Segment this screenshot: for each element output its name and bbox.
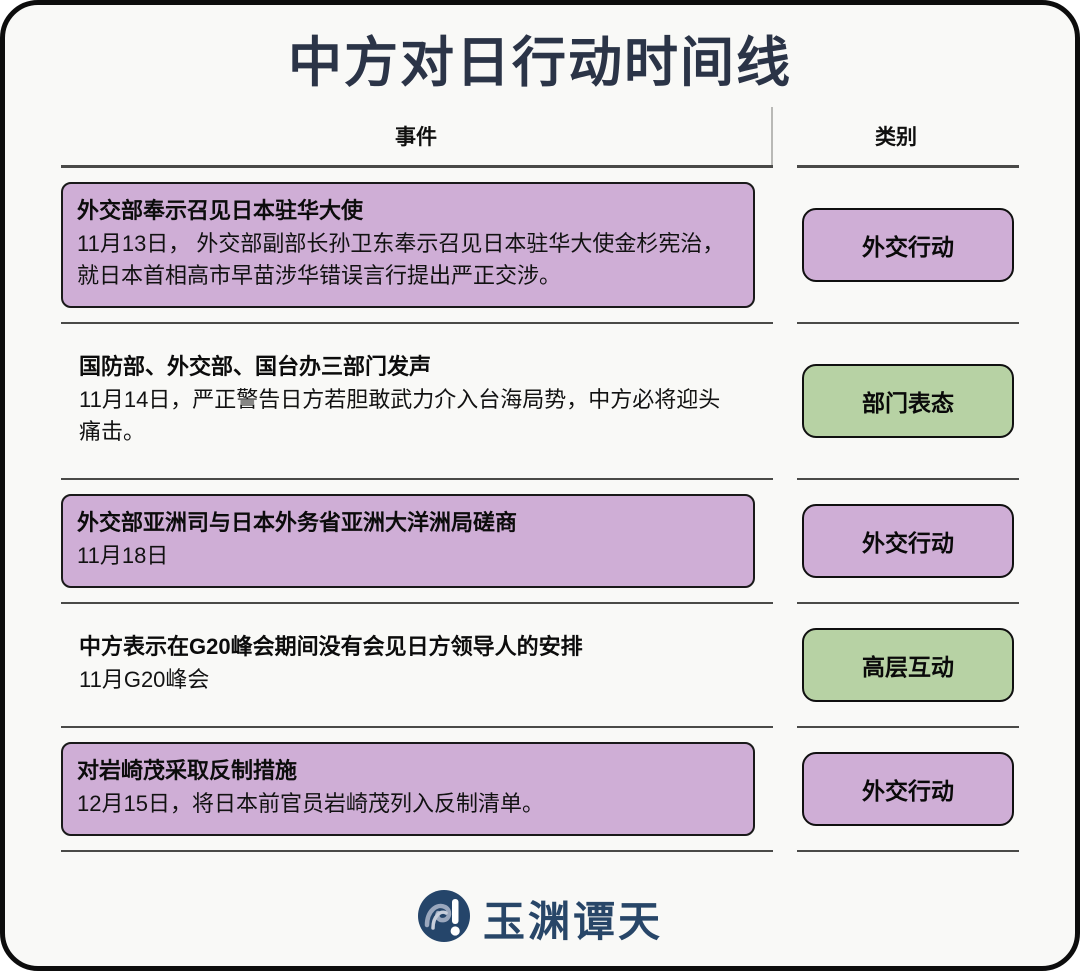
category-badge[interactable]: 外交行动 [802,752,1014,826]
event-cell: 中方表示在G20峰会期间没有会见日方领导人的安排11月G20峰会 [61,618,773,712]
category-cell: 外交行动 [773,504,1019,578]
wave-exclamation-circle-icon [417,889,471,948]
row-divider-gap [773,850,797,852]
event-detail: 11月18日 [77,540,739,572]
event-cell: 外交部亚洲司与日本外务省亚洲大洋洲局磋商11月18日 [61,494,773,588]
event-cell: 对岩崎茂采取反制措施12月15日，将日本前官员岩崎茂列入反制清单。 [61,742,773,836]
timeline-table: 事件 类别 外交部奉示召见日本驻华大使11月13日， 外交部副部长孙卫东奉示召见… [61,107,1019,870]
event-title: 中方表示在G20峰会期间没有会见日方领导人的安排 [79,632,739,662]
table-row-inner: 国防部、外交部、国台办三部门发声11月14日，严正警告日方若胆敢武力介入台海局势… [61,324,1019,478]
event-detail: 12月15日，将日本前官员岩崎茂列入反制清单。 [77,788,739,820]
event-detail: 11月13日， 外交部副部长孙卫东奉示召见日本驻华大使金杉宪治，就日本首相高市早… [77,228,739,292]
table-row: 对岩崎茂采取反制措施12月15日，将日本前官员岩崎茂列入反制清单。外交行动 [61,728,1019,852]
table-row-inner: 外交部奉示召见日本驻华大使11月13日， 外交部副部长孙卫东奉示召见日本驻华大使… [61,168,1019,322]
footer-logo: 玉渊谭天 [5,870,1075,966]
category-cell: 高层互动 [773,628,1019,702]
infographic-card: 中方对日行动时间线 事件 类别 外交部奉示召见日本驻华大使11月13日， 外交部… [0,0,1080,971]
event-detail: 11月14日，严正警告日方若胆敢武力介入台海局势，中方必将迎头痛击。 [79,384,739,448]
row-divider-right [797,850,1019,852]
category-badge[interactable]: 高层互动 [802,628,1014,702]
event-highlight-box: 外交部奉示召见日本驻华大使11月13日， 外交部副部长孙卫东奉示召见日本驻华大使… [61,182,755,308]
event-title: 国防部、外交部、国台办三部门发声 [79,352,739,382]
table-row-inner: 对岩崎茂采取反制措施12月15日，将日本前官员岩崎茂列入反制清单。外交行动 [61,728,1019,850]
event-title: 外交部奉示召见日本驻华大使 [77,196,739,226]
event-detail: 11月G20峰会 [79,664,739,696]
event-plain-box: 国防部、外交部、国台办三部门发声11月14日，严正警告日方若胆敢武力介入台海局势… [61,338,755,464]
table-row-inner: 外交部亚洲司与日本外务省亚洲大洋洲局磋商11月18日外交行动 [61,480,1019,602]
row-divider-left [61,850,773,852]
category-badge[interactable]: 外交行动 [802,208,1014,282]
category-cell: 部门表态 [773,364,1019,438]
category-badge[interactable]: 部门表态 [802,364,1014,438]
category-badge[interactable]: 外交行动 [802,504,1014,578]
table-header-category: 类别 [773,107,1019,165]
category-cell: 外交行动 [773,208,1019,282]
event-title: 外交部亚洲司与日本外务省亚洲大洋洲局磋商 [77,508,739,538]
row-divider [61,850,1019,852]
event-cell: 国防部、外交部、国台办三部门发声11月14日，严正警告日方若胆敢武力介入台海局势… [61,338,773,464]
category-cell: 外交行动 [773,752,1019,826]
table-row: 外交部奉示召见日本驻华大使11月13日， 外交部副部长孙卫东奉示召见日本驻华大使… [61,168,1019,324]
event-plain-box: 中方表示在G20峰会期间没有会见日方领导人的安排11月G20峰会 [61,618,755,712]
table-row: 中方表示在G20峰会期间没有会见日方领导人的安排11月G20峰会高层互动 [61,604,1019,728]
table-row-inner: 中方表示在G20峰会期间没有会见日方领导人的安排11月G20峰会高层互动 [61,604,1019,726]
event-highlight-box: 外交部亚洲司与日本外务省亚洲大洋洲局磋商11月18日 [61,494,755,588]
event-highlight-box: 对岩崎茂采取反制措施12月15日，将日本前官员岩崎茂列入反制清单。 [61,742,755,836]
event-title: 对岩崎茂采取反制措施 [77,756,739,786]
event-cell: 外交部奉示召见日本驻华大使11月13日， 外交部副部长孙卫东奉示召见日本驻华大使… [61,182,773,308]
table-row: 国防部、外交部、国台办三部门发声11月14日，严正警告日方若胆敢武力介入台海局势… [61,324,1019,480]
table-header-row: 事件 类别 [61,107,1019,165]
brand-name: 玉渊谭天 [483,888,663,949]
table-row: 外交部亚洲司与日本外务省亚洲大洋洲局磋商11月18日外交行动 [61,480,1019,604]
table-header-event: 事件 [61,107,773,165]
page-title: 中方对日行动时间线 [5,33,1075,93]
table-rows-container: 外交部奉示召见日本驻华大使11月13日， 外交部副部长孙卫东奉示召见日本驻华大使… [61,168,1019,851]
